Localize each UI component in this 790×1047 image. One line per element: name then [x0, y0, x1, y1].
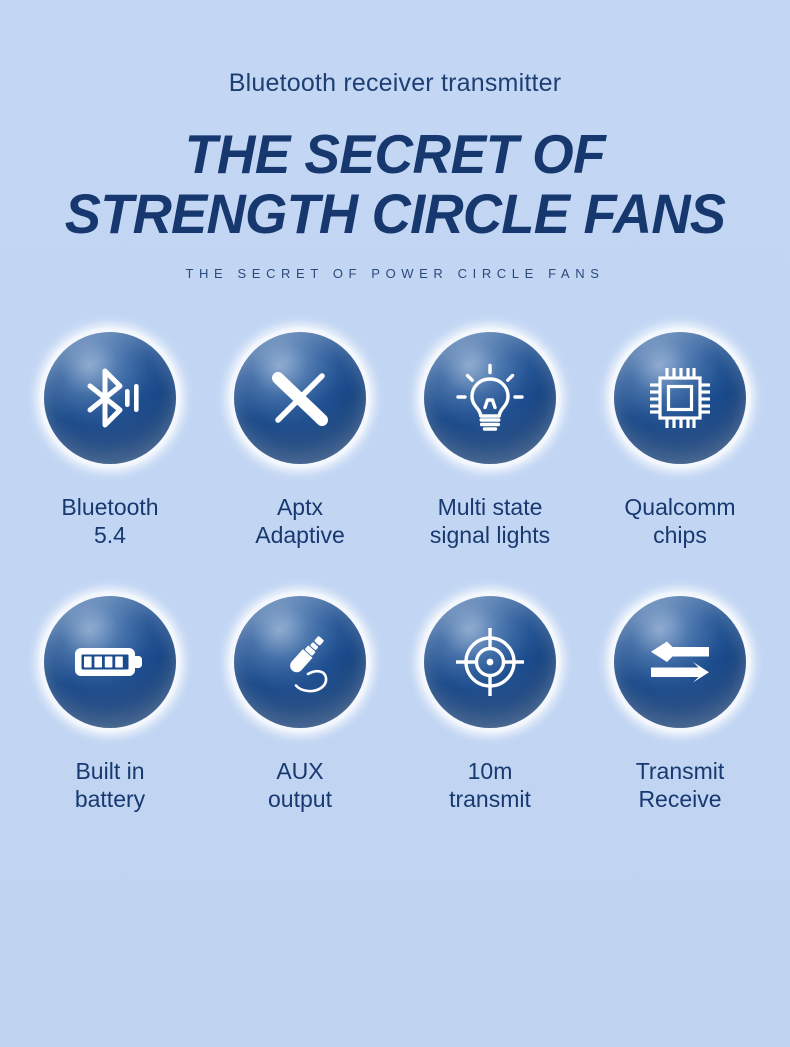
- feature-label: AUX output: [268, 757, 332, 813]
- feature-label-line-2: output: [268, 785, 332, 813]
- feature-row-1: Bluetooth 5.4 Aptx Adaptive: [0, 325, 790, 549]
- feature-label: Multi state signal lights: [430, 493, 550, 549]
- feature-label-line-2: Adaptive: [255, 521, 345, 549]
- feature-label-line-1: Transmit: [636, 757, 725, 785]
- icon-badge: [227, 589, 373, 735]
- title-line-2: STRENGTH CIRCLE FANS: [12, 184, 778, 244]
- feature-label: Qualcomm chips: [624, 493, 735, 549]
- icon-badge: [37, 325, 183, 471]
- battery-full-icon: [71, 623, 149, 701]
- poster-header: Bluetooth receiver transmitter THE SECRE…: [0, 0, 790, 281]
- feature-item-aux: AUX output: [205, 589, 395, 813]
- feature-label-line-1: AUX: [268, 757, 332, 785]
- feature-label: Bluetooth 5.4: [61, 493, 158, 549]
- icon-badge: [607, 589, 753, 735]
- title-line-1: THE SECRET OF: [12, 124, 778, 184]
- feature-label-line-2: Receive: [636, 785, 725, 813]
- feature-row-2: Built in battery: [0, 589, 790, 813]
- aux-jack-icon: [261, 623, 339, 701]
- feature-item-aptx: Aptx Adaptive: [205, 325, 395, 549]
- feature-label-line-2: 5.4: [61, 521, 158, 549]
- icon-badge: [417, 325, 563, 471]
- product-feature-poster: Bluetooth receiver transmitter THE SECRE…: [0, 0, 790, 1047]
- tagline: Bluetooth receiver transmitter: [0, 70, 790, 98]
- icon-badge: [607, 325, 753, 471]
- feature-label-line-1: 10m: [449, 757, 531, 785]
- feature-item-qualcomm: Qualcomm chips: [585, 325, 775, 549]
- feature-label: Transmit Receive: [636, 757, 725, 813]
- feature-item-battery: Built in battery: [15, 589, 205, 813]
- subtitle: THE SECRET OF POWER CIRCLE FANS: [0, 266, 790, 281]
- feature-label-line-2: transmit: [449, 785, 531, 813]
- icon-badge: [37, 589, 183, 735]
- feature-label: Built in battery: [75, 757, 145, 813]
- crosshair-target-icon: [451, 623, 529, 701]
- feature-item-signal-lights: Multi state signal lights: [395, 325, 585, 549]
- feature-label-line-2: signal lights: [430, 521, 550, 549]
- feature-item-bluetooth: Bluetooth 5.4: [15, 325, 205, 549]
- feature-label-line-2: battery: [75, 785, 145, 813]
- transmit-receive-arrows-icon: [641, 623, 719, 701]
- cpu-chip-icon: [642, 360, 718, 436]
- aptx-cross-icon: [262, 360, 338, 436]
- feature-label: Aptx Adaptive: [255, 493, 345, 549]
- icon-badge: [417, 589, 563, 735]
- icon-badge: [227, 325, 373, 471]
- feature-label-line-1: Multi state: [430, 493, 550, 521]
- feature-item-range: 10m transmit: [395, 589, 585, 813]
- feature-label: 10m transmit: [449, 757, 531, 813]
- feature-label-line-1: Built in: [75, 757, 145, 785]
- feature-label-line-2: chips: [624, 521, 735, 549]
- feature-grid: Bluetooth 5.4 Aptx Adaptive: [0, 325, 790, 813]
- main-title: THE SECRET OF STRENGTH CIRCLE FANS: [0, 124, 790, 244]
- feature-label-line-1: Aptx: [255, 493, 345, 521]
- bluetooth-signal-icon: [73, 361, 147, 435]
- feature-label-line-1: Qualcomm: [624, 493, 735, 521]
- feature-label-line-1: Bluetooth: [61, 493, 158, 521]
- lightbulb-icon: [451, 359, 529, 437]
- feature-item-transmit-receive: Transmit Receive: [585, 589, 775, 813]
